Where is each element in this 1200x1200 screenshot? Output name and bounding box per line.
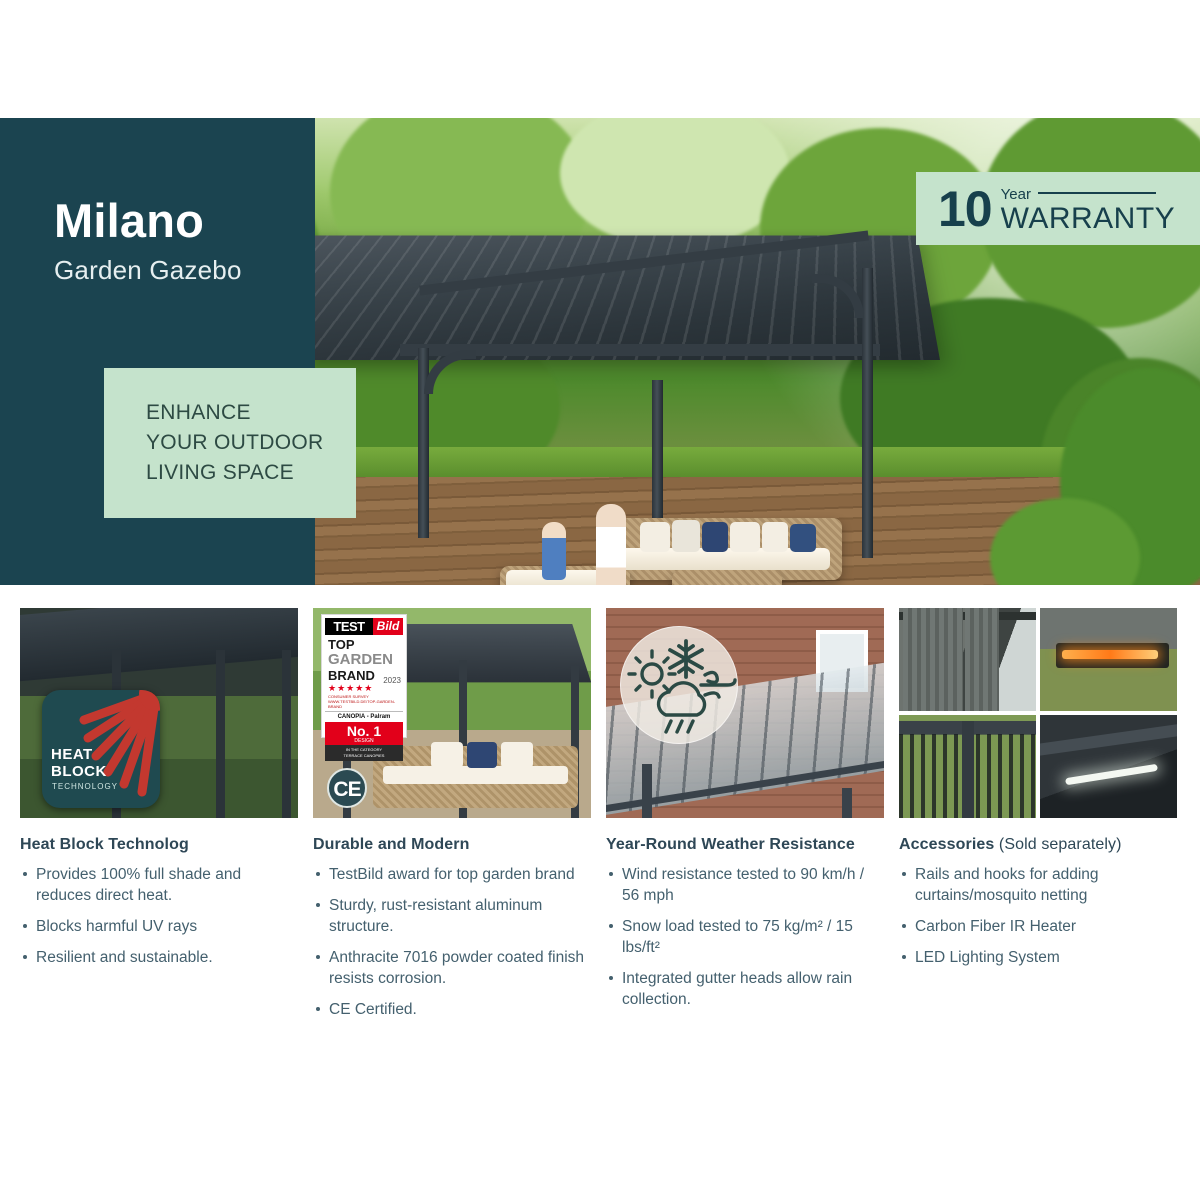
list-item: Anthracite 7016 powder coated finish res…: [313, 947, 591, 989]
column-bullet-list: Rails and hooks for adding curtains/mosq…: [899, 864, 1177, 968]
testbild-word-top: TOP: [325, 637, 403, 652]
heat-block-line-2: BLOCK: [51, 763, 107, 780]
weather-resistance-thumbnail: [606, 608, 884, 818]
coffee-table: [672, 570, 782, 585]
heat-block-badge: HEAT BLOCK TECHNOLOGY: [42, 690, 160, 808]
list-item: Provides 100% full shade and reduces dir…: [20, 864, 298, 906]
column-heading-text: Heat Block Technolog: [20, 836, 189, 853]
list-item: Blocks harmful UV rays: [20, 916, 298, 937]
testbild-fineprint-2: WWW.TESTBILD.DE/TOP-GARDEN-BRAND: [325, 699, 403, 709]
accessory-curtains-image: [899, 608, 1036, 711]
list-item: Sturdy, rust-resistant aluminum structur…: [313, 895, 591, 937]
column-bullet-list: Wind resistance tested to 90 km/h / 56 m…: [606, 864, 884, 1010]
page-subtitle: Garden Gazebo: [54, 255, 242, 286]
list-item: TestBild award for top garden brand: [313, 864, 591, 885]
testbild-category-line-2: TERRACE CANOPIES: [325, 753, 403, 759]
warranty-rule: [1038, 192, 1156, 194]
accessory-ir-heater-image: [1040, 608, 1177, 711]
heat-block-line-1: HEAT: [51, 746, 93, 763]
page-title: Milano: [54, 193, 204, 248]
testbild-rank: No. 1 DESIGN: [325, 722, 403, 745]
column-heading: Year-Round Weather Resistance: [606, 836, 884, 854]
accessory-mosquito-netting-image: [899, 715, 1036, 818]
testbild-test-word: TEST: [325, 618, 373, 635]
testbild-brand: CANOPIA - Palram: [325, 711, 403, 720]
list-item: Integrated gutter heads allow rain colle…: [606, 968, 884, 1010]
testbild-rank-number: No. 1: [325, 724, 403, 738]
warranty-year-label: Year: [1001, 186, 1031, 203]
product-feature-page: Milano Garden Gazebo ENHANCE YOUR OUTDOO…: [0, 0, 1200, 1200]
person-child: [542, 522, 566, 580]
list-item: Resilient and sustainable.: [20, 947, 298, 968]
person-adult: [596, 504, 626, 585]
list-item: Carbon Fiber IR Heater: [899, 916, 1177, 937]
testbild-year: 2023: [383, 676, 401, 685]
testbild-award-thumbnail: TEST Bild TOP GARDEN BRAND ★★★★★ 2023 CO…: [313, 608, 591, 818]
feature-columns: HEAT BLOCK TECHNOLOGY Heat Block Technol…: [20, 608, 1185, 1020]
testbild-word-garden: GARDEN: [325, 652, 403, 668]
feature-column-heat-block: HEAT BLOCK TECHNOLOGY Heat Block Technol…: [20, 608, 298, 1020]
feature-column-durable-modern: TEST Bild TOP GARDEN BRAND ★★★★★ 2023 CO…: [313, 608, 591, 1020]
heat-block-thumbnail: HEAT BLOCK TECHNOLOGY: [20, 608, 298, 818]
column-heading-text: Accessories: [899, 836, 994, 853]
list-item: Rails and hooks for adding curtains/mosq…: [899, 864, 1177, 906]
enhance-line-2: YOUR OUTDOOR: [146, 428, 356, 458]
warranty-label: WARRANTY: [1001, 204, 1176, 234]
list-item: Wind resistance tested to 90 km/h / 56 m…: [606, 864, 884, 906]
testbild-rank-sub: DESIGN: [325, 738, 403, 744]
column-bullet-list: Provides 100% full shade and reduces dir…: [20, 864, 298, 968]
column-heading-text: Durable and Modern: [313, 836, 469, 853]
weather-icons: [621, 627, 739, 745]
list-item: CE Certified.: [313, 999, 591, 1020]
ce-mark-icon: CE: [327, 768, 367, 808]
testbild-category: IN THE CATEGORY TERRACE CANOPIES: [325, 745, 403, 761]
testbild-award-badge: TEST Bild TOP GARDEN BRAND ★★★★★ 2023 CO…: [321, 614, 407, 738]
heat-block-line-3: TECHNOLOGY: [52, 782, 118, 791]
accessory-led-lighting-image: [1040, 715, 1177, 818]
list-item: Snow load tested to 75 kg/m² / 15 lbs/ft…: [606, 916, 884, 958]
enhance-callout: ENHANCE YOUR OUTDOOR LIVING SPACE: [104, 368, 356, 518]
feature-column-accessories: Accessories (Sold separately) Rails and …: [899, 608, 1177, 1020]
enhance-line-3: LIVING SPACE: [146, 458, 356, 488]
list-item: LED Lighting System: [899, 947, 1177, 968]
column-bullet-list: TestBild award for top garden brand Stur…: [313, 864, 591, 1020]
testbild-bild-word: Bild: [373, 618, 403, 635]
weather-icon-badge: [620, 626, 738, 744]
column-heading: Durable and Modern: [313, 836, 591, 854]
column-heading: Heat Block Technolog: [20, 836, 298, 854]
column-heading: Accessories (Sold separately): [899, 836, 1177, 854]
warranty-badge: 10 Year WARRANTY: [916, 172, 1200, 245]
feature-column-weather-resistance: Year-Round Weather Resistance Wind resis…: [606, 608, 884, 1020]
enhance-line-1: ENHANCE: [146, 398, 356, 428]
column-heading-note: (Sold separately): [994, 836, 1121, 853]
column-heading-text: Year-Round Weather Resistance: [606, 836, 855, 853]
accessories-thumbnail: [899, 608, 1177, 818]
warranty-years-number: 10: [938, 184, 992, 234]
